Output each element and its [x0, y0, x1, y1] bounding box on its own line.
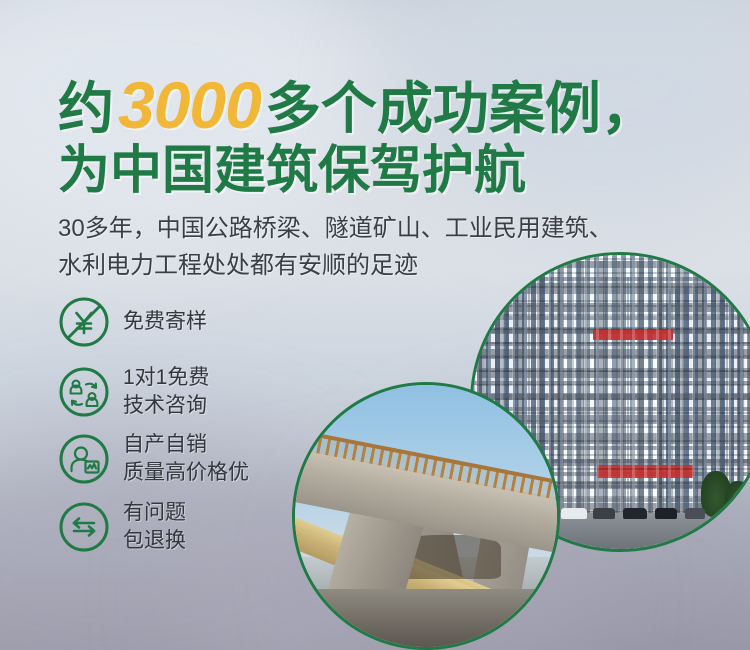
feature-line: 技术咨询 [123, 392, 209, 420]
headline-line-1: 约3000多个成功案例， [58, 72, 718, 139]
feature-item-free-sample: 免费寄样 [58, 296, 358, 348]
parked-car [561, 508, 587, 519]
feature-line: 有问题 [123, 499, 186, 527]
headline-suffix: 多个成功案例， [265, 77, 657, 140]
bridge-photo-scene [295, 385, 557, 647]
subtitle-line-1: 30多年，中国公路桥梁、隧道矿山、工业民用建筑、 [58, 210, 718, 247]
ground-rubble [295, 589, 557, 647]
feature-text: 免费寄样 [123, 308, 207, 336]
free-sample-icon [58, 296, 110, 348]
bridge-photo [292, 382, 560, 650]
one-on-one-consult-icon [58, 366, 110, 418]
headline-prefix: 约 [58, 77, 114, 140]
feature-line: 质量高价格优 [123, 459, 249, 487]
promotional-banner: 约3000多个成功案例， 为中国建筑保驾护航 30多年，中国公路桥梁、隧道矿山、… [0, 0, 750, 650]
parked-car [593, 508, 615, 519]
feature-text: 1对1免费 技术咨询 [123, 364, 209, 419]
feature-line: 1对1免费 [123, 364, 209, 392]
headline-line-2: 为中国建筑保驾护航 [58, 145, 718, 198]
headline-number: 3000 [114, 68, 265, 142]
feature-line: 自产自销 [123, 431, 249, 459]
parked-car [655, 508, 677, 519]
return-exchange-icon [58, 501, 110, 553]
self-production-icon [58, 433, 110, 485]
parked-car [623, 508, 647, 519]
feature-text: 有问题 包退换 [123, 499, 186, 554]
tree [725, 481, 750, 521]
headline: 约3000多个成功案例， 为中国建筑保驾护航 [58, 72, 718, 198]
parked-car [685, 508, 705, 519]
feature-line: 免费寄样 [123, 308, 207, 336]
feature-line: 包退换 [123, 527, 186, 555]
feature-text: 自产自销 质量高价格优 [123, 431, 249, 486]
